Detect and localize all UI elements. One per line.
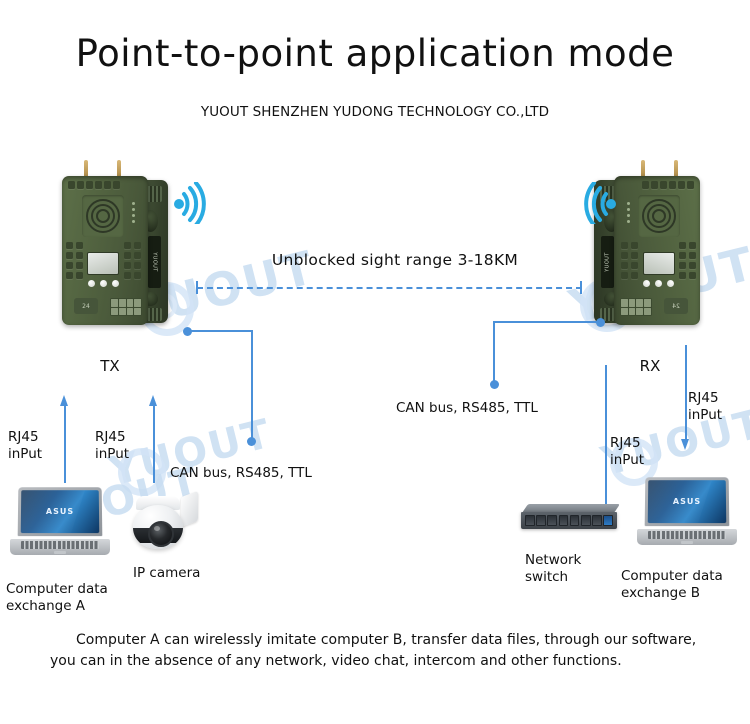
page-title: Point-to-point application mode	[0, 32, 750, 75]
fin-col-left	[66, 242, 83, 279]
camera-lens	[148, 521, 174, 547]
fin-col-right	[124, 242, 141, 279]
network-switch	[521, 504, 621, 532]
rj45-label-camera: RJ45 inPut	[95, 429, 129, 463]
switch-port	[536, 515, 546, 526]
radio-device-tx: YUOUT 24	[62, 160, 170, 325]
power-badge: 24	[664, 298, 688, 314]
serial-line-horizontal-left	[190, 330, 253, 332]
fan-housing	[638, 195, 680, 237]
power-badge: 24	[74, 298, 98, 314]
fan-housing	[82, 195, 124, 237]
switch-port	[581, 515, 591, 526]
switch-port	[570, 515, 580, 526]
range-label: Unblocked sight range 3-18KM	[195, 252, 595, 269]
serial-endpoint-dot-right	[490, 380, 499, 389]
laptop-base	[637, 529, 737, 545]
button-1[interactable]	[667, 280, 674, 287]
connector-pinpad	[110, 298, 142, 316]
side-brand-text: YUOUT	[605, 252, 611, 271]
laptop-lid: ASUS	[18, 487, 103, 536]
range-endcap-left	[196, 281, 198, 294]
rj45-label-laptop-a: RJ45 inPut	[8, 429, 42, 463]
ip-camera-label: IP camera	[133, 565, 200, 582]
device-body: 24	[614, 176, 700, 325]
rj45-label-switch: RJ45 inPut	[610, 435, 644, 469]
serial-line-vertical-right	[493, 321, 495, 383]
fan-ring-3	[652, 209, 666, 223]
status-leds	[132, 202, 135, 223]
side-vent-top	[146, 186, 162, 202]
rx-label: RX	[615, 358, 685, 375]
ip-camera	[130, 490, 200, 552]
range-dashed-line	[197, 287, 582, 289]
side-vent-bottom	[146, 308, 162, 321]
footer-description: Computer A can wirelessly imitate comput…	[50, 630, 710, 672]
laptop-screen: ASUS	[21, 490, 100, 533]
switch-port	[547, 515, 557, 526]
connector-pinpad	[620, 298, 652, 316]
serial-endpoint-dot-left	[247, 437, 256, 446]
network-switch-label: Network switch	[525, 552, 581, 586]
laptop-touchpad	[681, 541, 693, 544]
switch-port	[559, 515, 569, 526]
laptop-a: ASUS	[10, 487, 110, 555]
laptop-touchpad	[54, 551, 66, 554]
fin-col-right	[621, 242, 638, 279]
switch-port-panel	[521, 512, 617, 529]
laptop-brand-label: ASUS	[46, 507, 74, 516]
status-leds	[627, 202, 630, 223]
company-subtitle: YUOUT SHENZHEN YUDONG TECHNOLOGY CO.,LTD	[0, 104, 750, 120]
button-3[interactable]	[112, 280, 119, 287]
button-2[interactable]	[655, 280, 662, 287]
range-endcap-right	[580, 281, 582, 294]
button-3[interactable]	[643, 280, 650, 287]
laptop-lid: ASUS	[645, 477, 730, 526]
serial-label-left: CAN bus, RS485, TTL	[170, 465, 312, 482]
switch-port	[592, 515, 602, 526]
tx-label: TX	[75, 358, 145, 375]
switch-port	[525, 515, 535, 526]
laptop-b: ASUS	[637, 477, 737, 545]
button-1[interactable]	[88, 280, 95, 287]
laptop-keyboard	[21, 541, 99, 549]
camera-mount-arm	[181, 491, 198, 527]
side-brand-logo: YUOUT	[148, 236, 161, 288]
laptop-base	[10, 539, 110, 555]
serial-line-horizontal-right	[493, 321, 600, 323]
fin-col-left	[679, 242, 696, 279]
laptop-a-label: Computer data exchange A	[6, 581, 108, 615]
serial-line-vertical-left	[251, 330, 253, 440]
serial-label-right: CAN bus, RS485, TTL	[396, 400, 538, 417]
laptop-keyboard	[648, 531, 726, 539]
device-body: 24	[62, 176, 148, 325]
laptop-screen: ASUS	[648, 480, 727, 523]
side-brand-text: YUOUT	[152, 252, 158, 271]
switch-port-uplink	[603, 515, 613, 526]
lcd-display	[87, 252, 119, 275]
fin-row-top	[642, 181, 694, 189]
camera-dome	[133, 505, 183, 549]
wifi-icon-rx	[578, 182, 618, 224]
rj45-label-laptop-b: RJ45 inPut	[688, 390, 722, 424]
fin-row-top	[68, 181, 120, 189]
side-brand-logo: YUOUT	[601, 236, 614, 288]
lcd-display	[643, 252, 675, 275]
wifi-icon-tx	[172, 182, 212, 224]
fan-ring-3	[96, 209, 110, 223]
laptop-brand-label: ASUS	[673, 497, 701, 506]
laptop-b-label: Computer data exchange B	[621, 568, 723, 602]
button-2[interactable]	[100, 280, 107, 287]
